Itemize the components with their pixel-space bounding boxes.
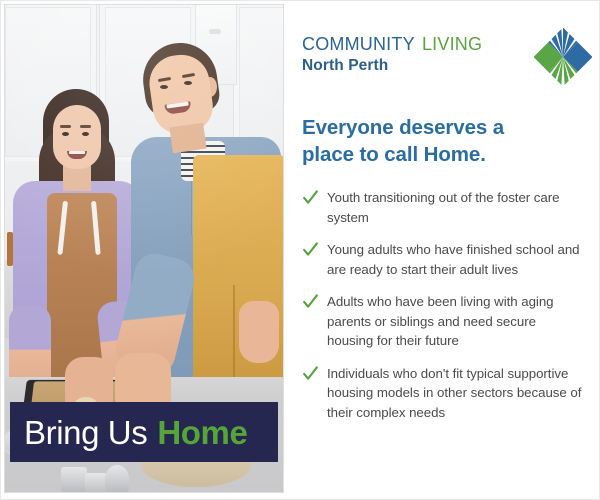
range-hood-light — [209, 29, 221, 34]
cookie-cutter — [85, 473, 107, 492]
person-right-neck — [169, 123, 206, 153]
eligibility-list: Youth transitioning out of the foster ca… — [302, 188, 584, 435]
list-item-label: Adults who have been living with aging p… — [327, 292, 584, 351]
list-item: Adults who have been living with aging p… — [302, 292, 584, 351]
list-item-label: Youth transitioning out of the foster ca… — [327, 188, 584, 227]
cookie-cutter — [105, 465, 129, 492]
organization-logo: Community Living North Perth — [302, 28, 592, 90]
person-left-eye — [62, 132, 69, 136]
person-left-face — [53, 105, 101, 169]
cookie-cutter — [61, 467, 87, 492]
green-checkmark-icon — [302, 365, 319, 382]
headline-line-2: place to call Home. — [302, 141, 570, 168]
logo-word-community: Community — [302, 28, 415, 56]
person-left-eye — [82, 132, 89, 136]
person-right-hand — [239, 301, 279, 363]
poster: Bring Us Home Community Living North Per… — [0, 0, 600, 500]
headline-line-1: Everyone deserves a — [302, 114, 570, 141]
green-checkmark-icon — [302, 189, 319, 206]
green-checkmark-icon — [302, 241, 319, 258]
list-item: Young adults who have finished school an… — [302, 240, 584, 279]
logo-tagline: North Perth — [302, 58, 482, 74]
list-item-label: Young adults who have finished school an… — [327, 240, 584, 279]
page-headline: Everyone deserves a place to call Home. — [302, 114, 570, 168]
logo-word-living: Living — [422, 28, 482, 56]
banner-text-white: Bring Us — [24, 416, 147, 449]
logo-line-primary: Community Living — [302, 30, 482, 55]
list-item: Individuals who don't fit typical suppor… — [302, 364, 584, 423]
list-item: Youth transitioning out of the foster ca… — [302, 188, 584, 227]
person-left-eyebrow — [80, 125, 91, 128]
bring-us-home-banner: Bring Us Home — [10, 402, 278, 462]
logo-wordmark: Community Living North Perth — [302, 30, 482, 74]
list-item-label: Individuals who don't fit typical suppor… — [327, 364, 584, 423]
banner-text-green: Home — [157, 416, 247, 449]
content-panel: Community Living North Perth — [288, 0, 600, 500]
diamond-sunburst-icon — [534, 28, 592, 86]
person-left-eyebrow — [60, 125, 71, 128]
green-checkmark-icon — [302, 293, 319, 310]
person-right-eye — [160, 85, 168, 89]
person-right-eye — [184, 81, 192, 85]
